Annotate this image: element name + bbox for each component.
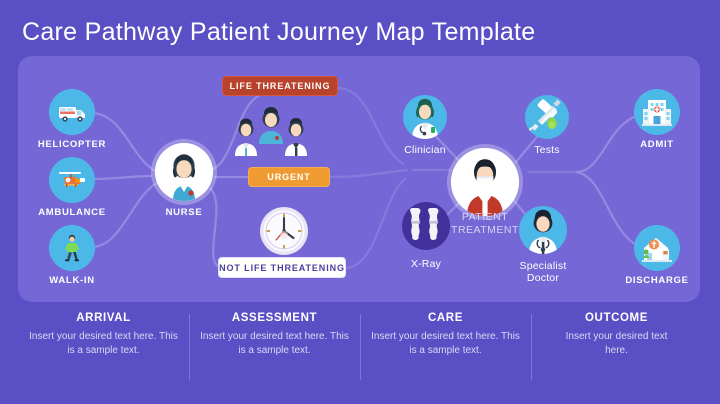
care-label-tests: Tests [512,144,582,156]
phase-column-arrival: ARRIVAL Insert your desired text here. T… [18,312,189,394]
medical-staff-group-icon [224,104,318,162]
arrival-label-walkin: WALK-IN [22,275,122,286]
badge-urgent[interactable]: URGENT [248,167,330,187]
phase-body-arrival: Insert your desired text here. This is a… [28,330,179,357]
page-title: Care Pathway Patient Journey Map Templat… [22,18,536,47]
phase-title-outcome: OUTCOME [541,312,692,324]
badge-life-threatening[interactable]: LIFE THREATENING [222,76,338,96]
phase-body-outcome: Insert your desired text here. [541,330,692,357]
patient-avatar-icon [451,148,519,216]
phase-description-row: ARRIVAL Insert your desired text here. T… [18,312,702,394]
arrival-label-helicopter: HELICOPTER [22,139,122,150]
badge-not-life-threatening[interactable]: NOT LIFE THREATENING [218,257,346,278]
ambulance-van-icon [49,89,95,135]
phase-column-assessment: ASSESSMENT Insert your desired text here… [189,312,360,394]
outcome-label-discharge: DISCHARGE [607,275,707,286]
care-label-clinician: Clinician [390,144,460,156]
care-center-label-line1: PATIENT [435,211,535,223]
phase-column-outcome: OUTCOME Insert your desired text here. [531,312,702,394]
helicopter-icon [49,157,95,203]
nurse-avatar-icon [155,143,213,201]
outcome-label-admit: ADMIT [607,139,707,150]
care-label-xray: X-Ray [391,258,461,270]
slide-canvas: Care Pathway Patient Journey Map Templat… [0,0,720,404]
phase-title-care: CARE [370,312,521,324]
walking-person-icon [49,225,95,271]
diagram-panel [18,56,700,302]
arrival-label-ambulance: AMBULANCE [22,207,122,218]
clock-icon [258,205,310,257]
phase-title-assessment: ASSESSMENT [199,312,350,324]
phase-column-care: CARE Insert your desired text here. This… [360,312,531,394]
hospital-building-icon [634,89,680,135]
clinician-icon [403,95,447,139]
phase-body-care: Insert your desired text here. This is a… [370,330,521,357]
phase-title-arrival: ARRIVAL [28,312,179,324]
phase-body-assessment: Insert your desired text here. This is a… [199,330,350,357]
syringe-test-icon [525,95,569,139]
care-label-specialist-doctor: Specialist Doctor [508,260,578,284]
assessment-label-nurse: NURSE [149,207,219,218]
care-center-label-line2: TREATMENT [435,224,535,236]
house-home-icon [634,225,680,271]
